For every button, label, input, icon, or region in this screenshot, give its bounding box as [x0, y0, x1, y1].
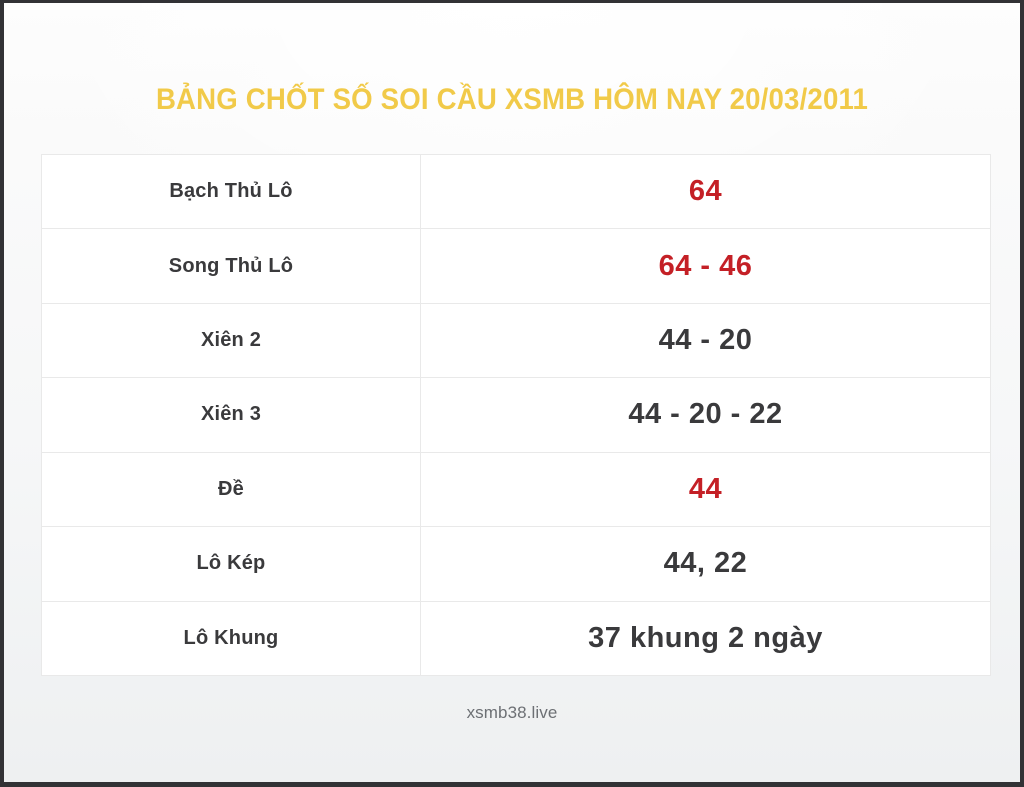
- bet-number-value: 64: [421, 155, 991, 229]
- prediction-table: Bạch Thủ Lô64Song Thủ Lô64 - 46Xiên 244 …: [41, 154, 991, 676]
- table-row: Lô Khung37 khung 2 ngày: [42, 601, 991, 675]
- bet-type-label: Đề: [42, 452, 421, 526]
- bet-type-label: Lô Kép: [42, 527, 421, 601]
- bet-type-label: Xiên 2: [42, 303, 421, 377]
- bet-number-value: 44, 22: [421, 527, 991, 601]
- bet-type-label: Xiên 3: [42, 378, 421, 452]
- bet-type-label: Lô Khung: [42, 601, 421, 675]
- bet-type-label: Song Thủ Lô: [42, 229, 421, 303]
- table-row: Bạch Thủ Lô64: [42, 155, 991, 229]
- table-row: Lô Kép44, 22: [42, 527, 991, 601]
- bet-number-value: 44 - 20: [421, 303, 991, 377]
- prediction-table-container: Bạch Thủ Lô64Song Thủ Lô64 - 46Xiên 244 …: [41, 154, 991, 676]
- table-row: Đề44: [42, 452, 991, 526]
- bet-number-value: 37 khung 2 ngày: [421, 601, 991, 675]
- table-row: Xiên 344 - 20 - 22: [42, 378, 991, 452]
- bet-number-value: 44 - 20 - 22: [421, 378, 991, 452]
- table-row: Song Thủ Lô64 - 46: [42, 229, 991, 303]
- site-watermark: xsmb38.live: [4, 703, 1020, 723]
- bet-number-value: 44: [421, 452, 991, 526]
- page-title: BẢNG CHỐT SỐ SOI CẦU XSMB HÔM NAY 20/03/…: [45, 83, 980, 117]
- table-row: Xiên 244 - 20: [42, 303, 991, 377]
- prediction-table-body: Bạch Thủ Lô64Song Thủ Lô64 - 46Xiên 244 …: [42, 155, 991, 676]
- bet-number-value: 64 - 46: [421, 229, 991, 303]
- screenshot-frame: BẢNG CHỐT SỐ SOI CẦU XSMB HÔM NAY 20/03/…: [0, 0, 1024, 787]
- bet-type-label: Bạch Thủ Lô: [42, 155, 421, 229]
- page-canvas: BẢNG CHỐT SỐ SOI CẦU XSMB HÔM NAY 20/03/…: [4, 3, 1020, 782]
